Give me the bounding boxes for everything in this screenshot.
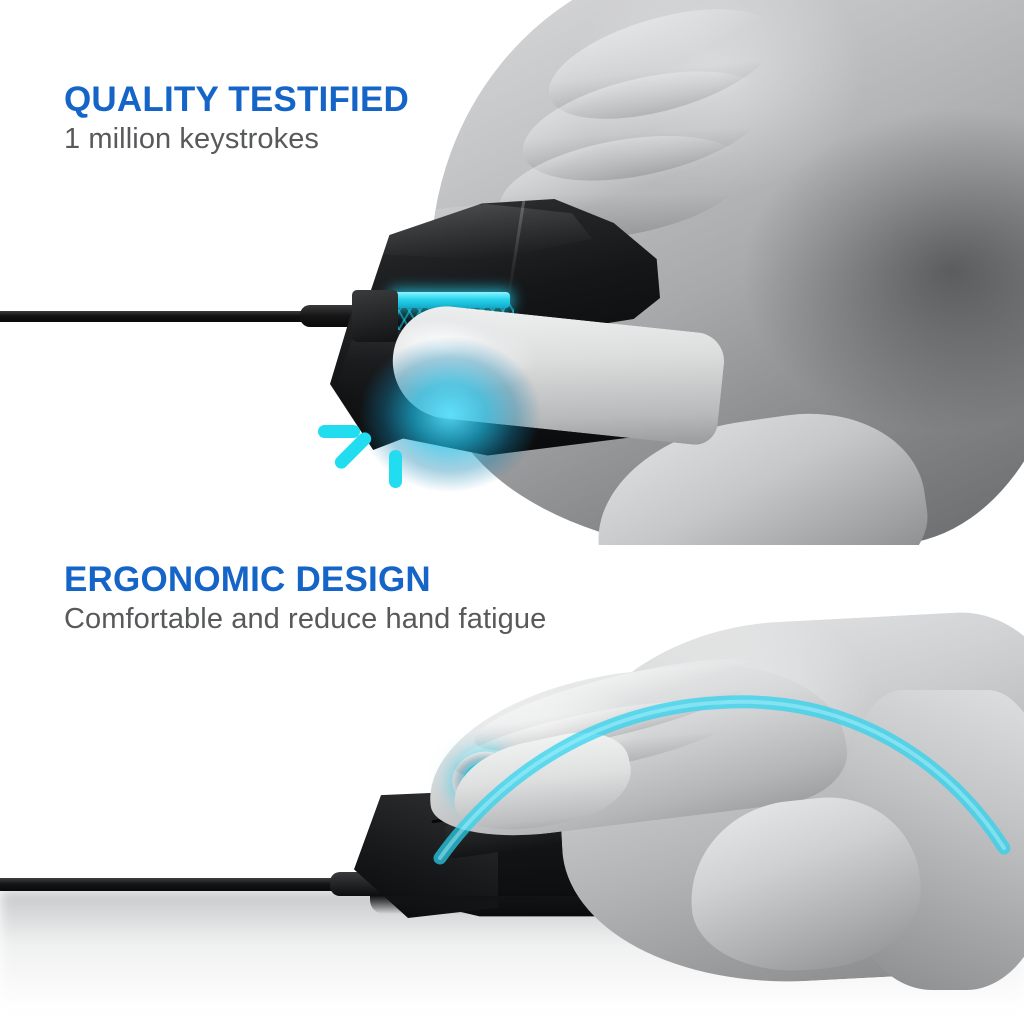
caption-ergonomic-design: ERGONOMIC DESIGN Comfortable and reduce … [64, 562, 546, 635]
wheel-housing-top [352, 290, 398, 342]
mouse-cable-bottom [0, 878, 380, 891]
caption-quality-testified: QUALITY TESTIFIED 1 million keystrokes [64, 82, 409, 155]
product-feature-poster: QUALITY TESTIFIED 1 million keystrokes E… [0, 0, 1024, 1024]
subheading-quality-testified: 1 million keystrokes [64, 124, 409, 155]
heading-quality-testified: QUALITY TESTIFIED [64, 82, 409, 118]
subheading-ergonomic-design: Comfortable and reduce hand fatigue [64, 604, 546, 635]
click-burst-horizontal-icon [318, 425, 360, 438]
heading-ergonomic-design: ERGONOMIC DESIGN [64, 562, 546, 598]
click-burst-vertical-icon [389, 450, 402, 488]
